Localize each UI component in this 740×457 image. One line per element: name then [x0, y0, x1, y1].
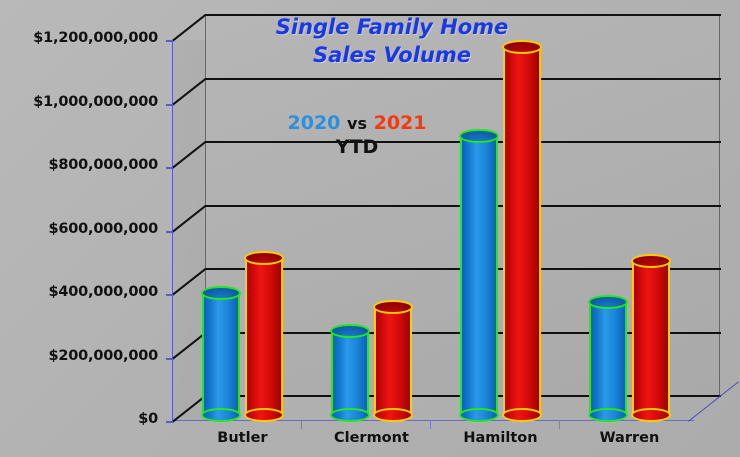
bar-body: [331, 331, 369, 415]
bar-top-ellipse: [631, 254, 671, 268]
y-axis-tick: [166, 421, 173, 423]
chart-container: $1,200,000,000$1,000,000,000$800,000,000…: [0, 0, 740, 457]
chart-legend: 2020 vs 2021 YTD: [222, 112, 492, 159]
bar-body: [245, 258, 283, 415]
y-axis-tick: [166, 294, 173, 296]
y-axis-tick: [166, 104, 173, 106]
x-axis-label-clermont: Clermont: [311, 430, 431, 446]
bar-body: [202, 293, 240, 415]
legend-ytd-label: YTD: [222, 136, 492, 159]
legend-vs-label: vs: [347, 114, 367, 133]
y-axis-label: $1,200,000,000: [33, 30, 158, 46]
legend-item-2021: 2021: [374, 112, 427, 134]
y-axis-tick: [166, 358, 173, 360]
y-axis-label: $800,000,000: [48, 157, 158, 173]
bar-butler-2021: [245, 251, 283, 415]
bar-body: [589, 302, 627, 415]
bar-body: [460, 136, 498, 415]
y-axis-label: $1,000,000,000: [33, 94, 158, 110]
x-axis-tick: [559, 420, 560, 429]
bar-bottom-ellipse: [631, 408, 671, 422]
bar-top-ellipse: [330, 324, 370, 338]
bar-bottom-ellipse: [201, 408, 241, 422]
x-axis-tick: [301, 420, 302, 429]
x-axis-label-hamilton: Hamilton: [440, 430, 560, 446]
gridline: [205, 14, 721, 16]
chart-side-wall: [172, 40, 205, 420]
bar-butler-2020: [202, 286, 240, 415]
gridline: [205, 78, 721, 80]
bar-warren-2020: [589, 295, 627, 415]
x-axis-label-butler: Butler: [182, 430, 302, 446]
x-axis-label-warren: Warren: [569, 430, 689, 446]
bar-top-ellipse: [373, 300, 413, 314]
y-axis-label: $600,000,000: [48, 221, 158, 237]
y-axis-tick: [166, 231, 173, 233]
bar-top-ellipse: [201, 286, 241, 300]
gridline-depth-connector: [172, 14, 206, 42]
bar-bottom-ellipse: [502, 408, 542, 422]
bar-warren-2021: [632, 254, 670, 415]
bar-body: [503, 47, 541, 415]
x-axis-tick: [430, 420, 431, 429]
bar-clermont-2021: [374, 300, 412, 415]
bar-bottom-ellipse: [588, 408, 628, 422]
y-axis-tick: [166, 40, 173, 42]
bar-hamilton-2021: [503, 40, 541, 415]
y-axis-label: $200,000,000: [48, 348, 158, 364]
y-axis-tick: [166, 167, 173, 169]
bar-body: [374, 307, 412, 415]
bar-clermont-2020: [331, 324, 369, 415]
bar-body: [632, 261, 670, 415]
y-axis-label: $0: [138, 411, 158, 427]
bar-bottom-ellipse: [373, 408, 413, 422]
bar-hamilton-2020: [460, 129, 498, 415]
y-axis-label: $400,000,000: [48, 284, 158, 300]
bar-bottom-ellipse: [244, 408, 284, 422]
legend-item-2020: 2020: [288, 112, 341, 134]
bar-bottom-ellipse: [330, 408, 370, 422]
bar-bottom-ellipse: [459, 408, 499, 422]
bar-top-ellipse: [502, 40, 542, 54]
legend-years-row: 2020 vs 2021: [222, 112, 492, 136]
bar-top-ellipse: [244, 251, 284, 265]
